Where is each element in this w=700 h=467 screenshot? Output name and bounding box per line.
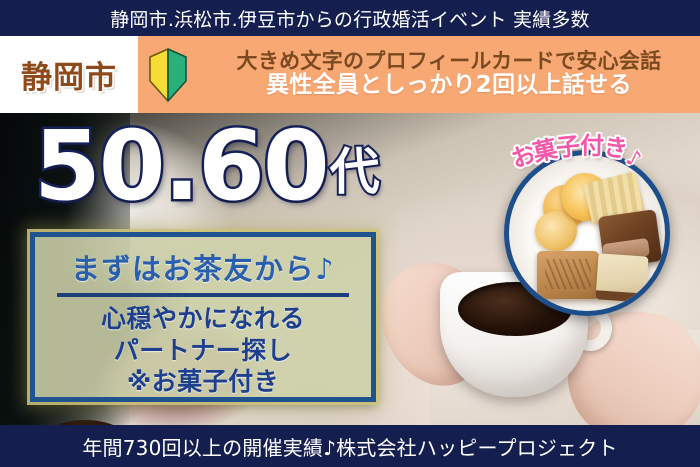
bottom-company-text: 年間730回以上の開催実績♪株式会社ハッピープロジェクト [82,432,617,461]
feature-row: 静岡市 大きめ文字のプロフィールカードで安心会話 異性全員としっかり2回以上話せ… [0,36,700,113]
feature-line-2: 異性全員としっかり2回以上話せる [266,73,632,99]
top-headline-bar: 静岡市.浜松市.伊豆市からの行政婚活イベント 実績多数 [0,0,700,36]
cookie-round-c [535,211,577,251]
age-headline-suffix: 代 [330,132,380,210]
highlight-box-divider [57,293,349,297]
highlight-body-line: ※お菓子付き [101,366,305,397]
feature-line-1: 大きめ文字のプロフィールカードで安心会話 [237,50,662,74]
age-headline: 50.60 代 [34,122,380,210]
chocolate-square-biscuit [537,251,599,299]
bottom-company-bar: 年間730回以上の開催実績♪株式会社ハッピープロジェクト [0,425,700,467]
feature-banner: 大きめ文字のプロフィールカードで安心会話 異性全員としっかり2回以上話せる [138,36,700,113]
top-headline-text: 静岡市.浜松市.伊豆市からの行政婚活イベント 実績多数 [110,5,590,32]
highlight-box: まずはお茶友から♪ 心穏やかになれる パートナー探し ※お菓子付き [30,232,376,402]
event-advertisement-banner: 静岡市.浜松市.伊豆市からの行政婚活イベント 実績多数 静岡市 大きめ文字のプロ… [0,0,700,467]
highlight-body-line: 心穏やかになれる [101,303,305,334]
highlight-body-line: パートナー探し [101,335,305,366]
plain-biscuit [595,253,648,302]
wakaba-beginner-mark-icon [146,47,190,103]
city-tag: 静岡市 [0,36,138,113]
sweets-photo [504,150,670,316]
city-tag-label: 静岡市 [21,52,117,97]
age-headline-number: 50.60 [34,122,328,210]
highlight-box-body: 心穏やかになれる パートナー探し ※お菓子付き [101,303,305,397]
highlight-box-heading: まずはお茶友から♪ [71,246,335,288]
feature-banner-lines: 大きめ文字のプロフィールカードで安心会話 異性全員としっかり2回以上話せる [198,50,700,99]
